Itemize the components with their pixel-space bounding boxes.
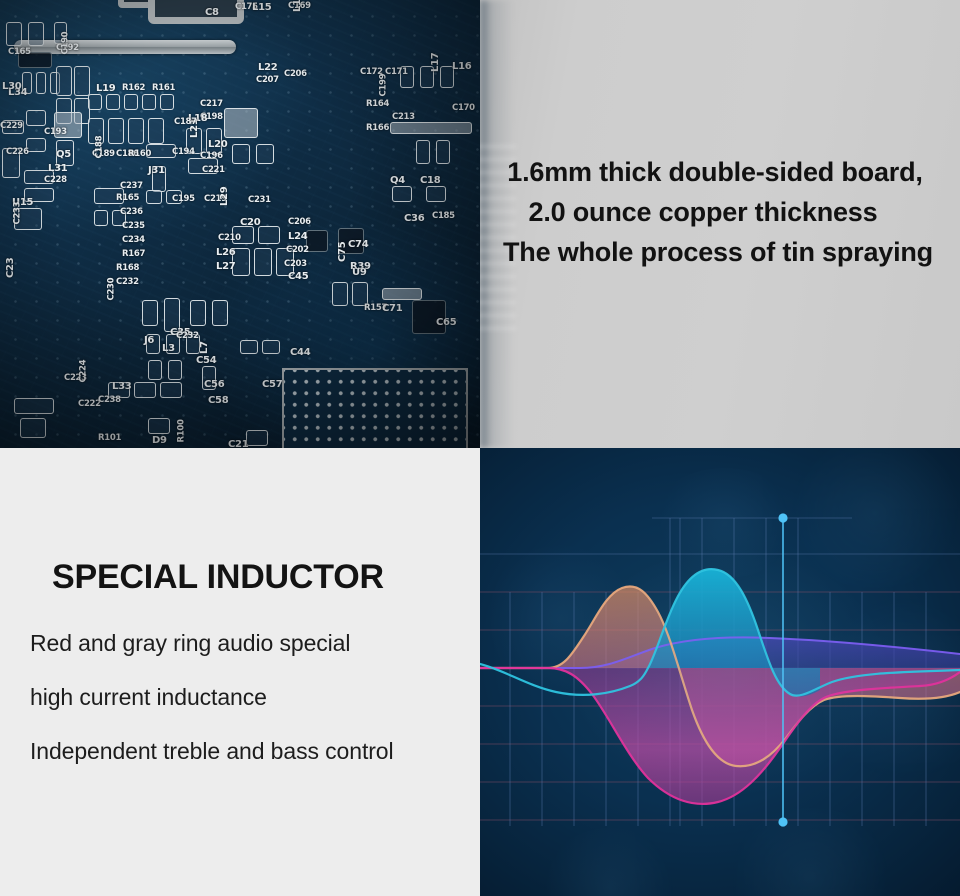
marker-bottom-handle[interactable] — [778, 817, 787, 826]
equalizer-chart — [480, 448, 960, 896]
spec-line-2: 2.0 ounce copper thickness — [503, 193, 933, 233]
spec-callout-panel: 1.6mm thick double-sided board, 2.0 ounc… — [480, 0, 960, 448]
spec-line-1: 1.6mm thick double-sided board, — [503, 153, 933, 193]
list-item: high current inductance — [30, 686, 480, 709]
list-item: Red and gray ring audio special — [30, 632, 480, 655]
equalizer-waveform-panel — [480, 448, 960, 896]
spec-line-3: The whole process of tin spraying — [503, 233, 933, 273]
list-item: Independent treble and bass control — [30, 740, 480, 763]
inductor-bullet-list: Red and gray ring audio special high cur… — [30, 632, 480, 763]
marker-top-handle[interactable] — [778, 513, 787, 522]
spec-text-block: 1.6mm thick double-sided board, 2.0 ounc… — [503, 153, 937, 294]
inductor-feature-panel: SPECIAL INDUCTOR Red and gray ring audio… — [0, 448, 480, 896]
page-title: SPECIAL INDUCTOR — [52, 560, 480, 594]
pcb-vignette — [0, 0, 480, 448]
product-feature-collage: C175L15C169L14C8L22C207C206C172C171L17L1… — [0, 0, 960, 896]
printed-circuit-board-photo: C175L15C169L14C8L22C207C206C172C171L17L1… — [0, 0, 480, 448]
